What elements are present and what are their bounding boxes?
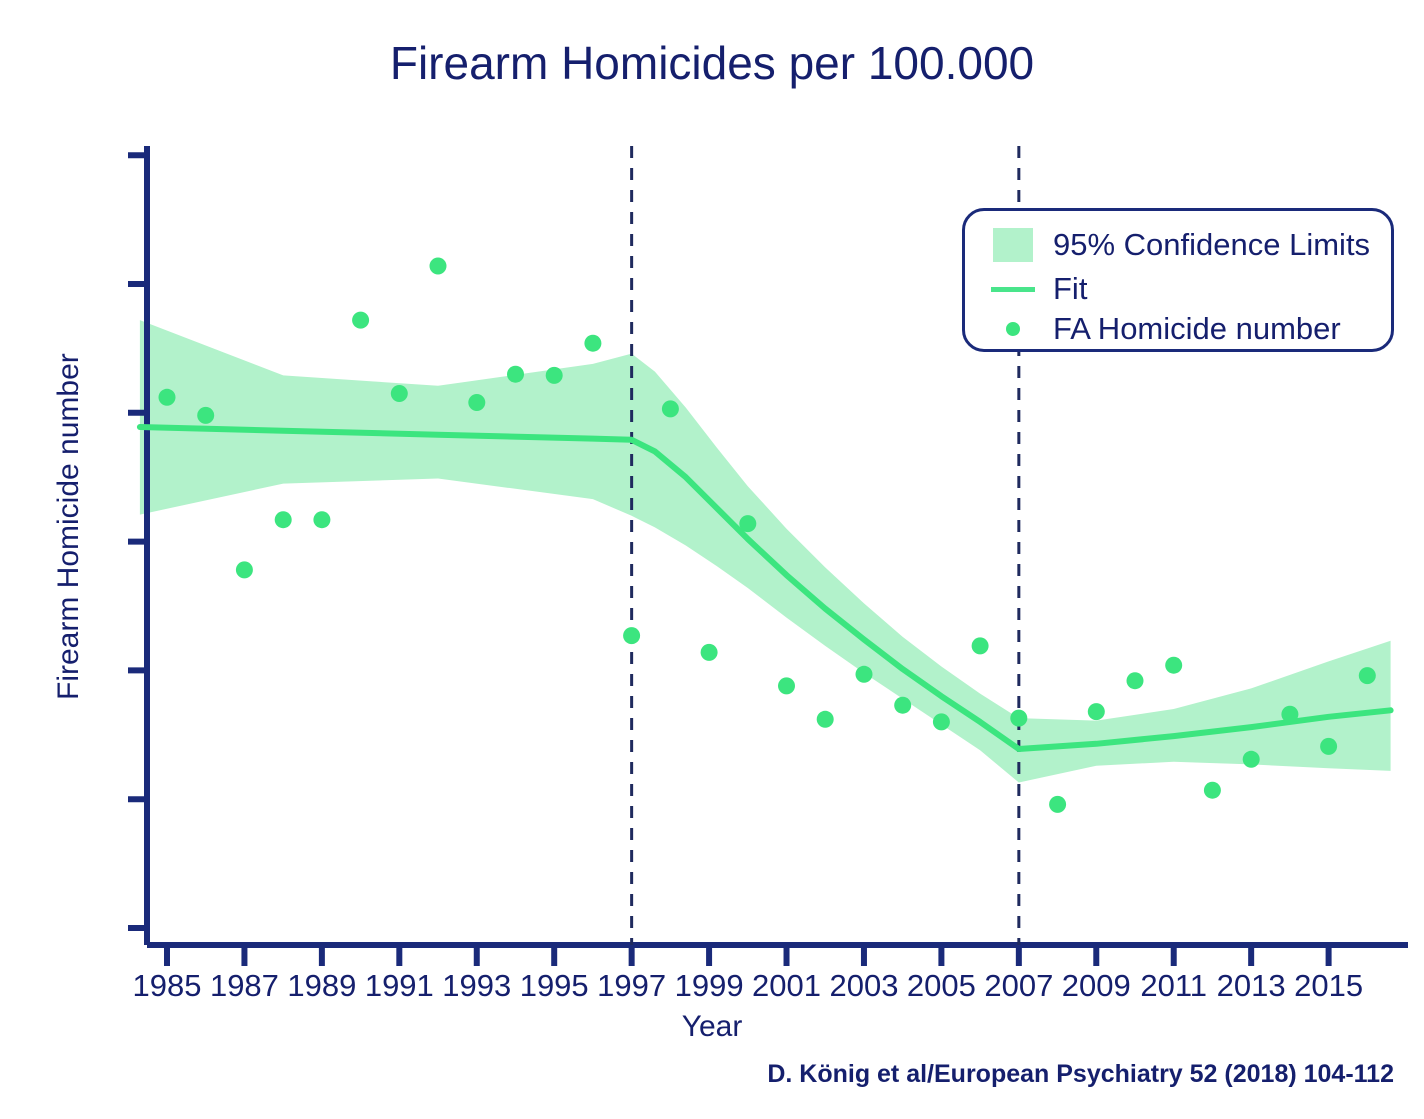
- data-point: [313, 511, 330, 528]
- data-point: [197, 407, 214, 424]
- x-tick-label: 2003: [829, 968, 898, 1004]
- x-tick-label: 1985: [133, 968, 202, 1004]
- legend-label-fit: Fit: [1053, 271, 1087, 307]
- data-point: [739, 515, 756, 532]
- data-point: [1010, 710, 1027, 727]
- data-point: [275, 511, 292, 528]
- chart-plot-area: [0, 0, 1424, 1119]
- y-axis-title: Firearm Homicide number: [52, 353, 86, 700]
- data-point: [778, 677, 795, 694]
- x-tick-label: 1995: [520, 968, 589, 1004]
- data-point: [507, 366, 524, 383]
- data-point: [1127, 672, 1144, 689]
- legend-item-points: FA Homicide number: [987, 307, 1341, 351]
- data-point: [623, 627, 640, 644]
- data-point: [1359, 667, 1376, 684]
- x-tick-label: 2011: [1140, 968, 1207, 1004]
- x-tick-label: 1999: [675, 968, 744, 1004]
- x-axis-title: Year: [0, 1010, 1424, 1044]
- data-point: [584, 335, 601, 352]
- confidence-band-swatch-icon: [987, 228, 1039, 262]
- data-point: [1281, 706, 1298, 723]
- data-point: [1204, 782, 1221, 799]
- data-point: [236, 561, 253, 578]
- x-tick-label: 1987: [210, 968, 279, 1004]
- x-tick-label: 2007: [984, 968, 1053, 1004]
- data-point: [662, 400, 679, 417]
- data-point-swatch-icon: [987, 322, 1039, 336]
- x-tick-label: 2005: [907, 968, 976, 1004]
- data-point: [159, 389, 176, 406]
- legend-label-confidence: 95% Confidence Limits: [1053, 227, 1370, 263]
- fit-line-swatch-icon: [987, 287, 1039, 292]
- data-point: [352, 312, 369, 329]
- x-tick-label: 1991: [365, 968, 434, 1004]
- data-point: [972, 637, 989, 654]
- x-tick-label: 2013: [1217, 968, 1286, 1004]
- data-point: [701, 644, 718, 661]
- x-tick-label: 2015: [1294, 968, 1363, 1004]
- chart-legend: 95% Confidence Limits Fit FA Homicide nu…: [962, 208, 1394, 352]
- chart-figure: Firearm Homicides per 100.000 0.00.10.20…: [0, 0, 1424, 1119]
- data-point: [1049, 796, 1066, 813]
- data-point: [468, 394, 485, 411]
- legend-item-confidence: 95% Confidence Limits: [987, 223, 1370, 267]
- data-point: [430, 258, 447, 275]
- data-point: [391, 385, 408, 402]
- data-point: [1320, 738, 1337, 755]
- x-tick-label: 1997: [597, 968, 666, 1004]
- data-point: [1243, 751, 1260, 768]
- data-point: [1165, 657, 1182, 674]
- data-point: [933, 713, 950, 730]
- data-point: [817, 711, 834, 728]
- x-tick-label: 2001: [752, 968, 821, 1004]
- data-point: [1088, 703, 1105, 720]
- source-citation: D. König et al/European Psychiatry 52 (2…: [767, 1060, 1394, 1089]
- x-tick-label: 2009: [1062, 968, 1131, 1004]
- x-tick-label: 1993: [442, 968, 511, 1004]
- x-tick-label: 1989: [287, 968, 356, 1004]
- legend-item-fit: Fit: [987, 267, 1087, 311]
- data-point: [894, 697, 911, 714]
- legend-label-points: FA Homicide number: [1053, 311, 1341, 347]
- data-point: [546, 367, 563, 384]
- data-point: [856, 666, 873, 683]
